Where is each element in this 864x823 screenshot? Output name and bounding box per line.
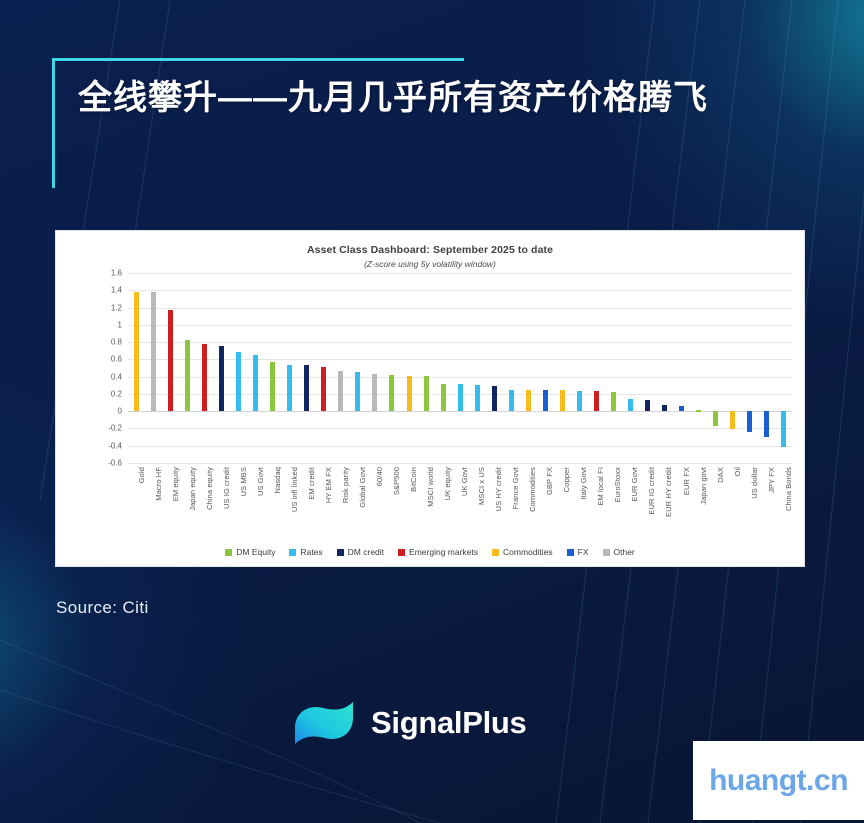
- x-axis-label-slot: UK Govt: [452, 465, 469, 553]
- chart-bar-slot: [145, 273, 162, 463]
- x-axis-label-slot: MSCI world: [418, 465, 435, 553]
- chart-bar-slot: [503, 273, 520, 463]
- x-axis-label-slot: EM local FI: [588, 465, 605, 553]
- x-axis-label-slot: GBP FX: [537, 465, 554, 553]
- chart-bar: [679, 406, 684, 411]
- brand-name: SignalPlus: [371, 705, 526, 741]
- x-axis-label-slot: 60/40: [366, 465, 383, 553]
- legend-item[interactable]: Emerging markets: [398, 547, 478, 557]
- y-axis-tick: 0.4: [90, 372, 122, 381]
- x-axis-label-slot: Japan equity: [179, 465, 196, 553]
- y-axis-tick: 0: [90, 407, 122, 416]
- chart-bar-slot: [537, 273, 554, 463]
- y-axis-tick: 1.4: [90, 286, 122, 295]
- chart-bar: [134, 292, 139, 411]
- y-axis-tick: 1: [90, 320, 122, 329]
- x-axis-label-slot: US IG credit: [213, 465, 230, 553]
- x-axis-label-slot: JPY FX: [758, 465, 775, 553]
- chart-bar: [764, 411, 769, 437]
- chart-bar: [611, 392, 616, 411]
- y-axis: 1.61.41.210.80.60.40.20-0.2-0.4-0.6: [86, 273, 122, 463]
- chart-bar: [594, 391, 599, 411]
- headline-block: 全线攀升——九月几乎所有资产价格腾飞: [52, 58, 812, 123]
- chart-bar-slot: [383, 273, 400, 463]
- y-axis-tick: 0.2: [90, 389, 122, 398]
- chart-bar: [441, 384, 446, 412]
- page-title: 全线攀升——九月几乎所有资产价格腾飞: [78, 58, 808, 123]
- chart-bar-slot: [486, 273, 503, 463]
- chart-bar-slot: [690, 273, 707, 463]
- chart-bar-slot: [213, 273, 230, 463]
- chart-bar: [202, 344, 207, 411]
- chart-bar: [713, 411, 718, 426]
- legend-label: FX: [578, 547, 589, 557]
- chart-bar-slot: [315, 273, 332, 463]
- x-axis-label-slot: UK equity: [435, 465, 452, 553]
- x-axis-label-slot: MSCI x US: [469, 465, 486, 553]
- chart-bar-slot: [724, 273, 741, 463]
- chart-bars: [128, 273, 792, 463]
- legend-item[interactable]: Rates: [289, 547, 322, 557]
- chart-bar: [253, 355, 258, 411]
- x-axis-label-slot: S&P500: [383, 465, 400, 553]
- x-axis-label-slot: Japan govt: [690, 465, 707, 553]
- chart-bar-slot: [741, 273, 758, 463]
- x-axis-label-slot: EUR FX: [673, 465, 690, 553]
- chart-bar: [219, 346, 224, 412]
- chart-bar: [509, 390, 514, 412]
- x-axis-label-slot: US infl linked: [281, 465, 298, 553]
- chart-bar-slot: [349, 273, 366, 463]
- x-axis-label-slot: China equity: [196, 465, 213, 553]
- chart-bar: [730, 411, 735, 429]
- x-axis-label-slot: EuroStoxx: [605, 465, 622, 553]
- chart-bar-slot: [520, 273, 537, 463]
- x-axis-label-slot: BitCoin: [401, 465, 418, 553]
- legend-swatch-icon: [289, 549, 296, 556]
- chart-bar-slot: [758, 273, 775, 463]
- chart-bar-slot: [332, 273, 349, 463]
- chart-card: Asset Class Dashboard: September 2025 to…: [55, 230, 805, 567]
- chart-bar-slot: [452, 273, 469, 463]
- legend-swatch-icon: [225, 549, 232, 556]
- x-axis-label: China Bonds: [784, 467, 793, 511]
- chart-bar-slot: [707, 273, 724, 463]
- y-axis-tick: -0.2: [90, 424, 122, 433]
- chart-bar-slot: [230, 273, 247, 463]
- chart-bar: [185, 340, 190, 411]
- legend-label: Emerging markets: [409, 547, 478, 557]
- legend-label: Rates: [300, 547, 322, 557]
- chart-bar: [628, 399, 633, 411]
- x-axis-label-slot: HY EM FX: [315, 465, 332, 553]
- chart-bar: [424, 376, 429, 411]
- x-axis-label-slot: Gold: [128, 465, 145, 553]
- legend-item[interactable]: DM Equity: [225, 547, 275, 557]
- chart-bar-slot: [162, 273, 179, 463]
- legend-label: Commodities: [503, 547, 553, 557]
- legend-swatch-icon: [398, 549, 405, 556]
- chart-bar: [696, 410, 701, 411]
- chart-bar-slot: [554, 273, 571, 463]
- gridline: [128, 463, 792, 464]
- y-axis-tick: 0.8: [90, 338, 122, 347]
- chart-bar: [338, 371, 343, 412]
- x-axis-label-slot: EM equity: [162, 465, 179, 553]
- chart-bar-slot: [366, 273, 383, 463]
- chart-bar-slot: [605, 273, 622, 463]
- chart-bar: [526, 390, 531, 412]
- chart-bar: [270, 362, 275, 411]
- x-axis-label-slot: US MBS: [230, 465, 247, 553]
- chart-bar-slot: [401, 273, 418, 463]
- chart-bar-slot: [247, 273, 264, 463]
- chart-bar: [492, 386, 497, 411]
- chart-bar: [458, 384, 463, 411]
- x-axis-label-slot: Nasdaq: [264, 465, 281, 553]
- x-axis-label-slot: EM credit: [298, 465, 315, 553]
- x-axis-label-slot: US HY credit: [486, 465, 503, 553]
- chart-bar: [662, 405, 667, 411]
- chart-bar-slot: [571, 273, 588, 463]
- x-axis-label-slot: Global Govt: [349, 465, 366, 553]
- chart-bar: [321, 367, 326, 411]
- chart-bar: [781, 411, 786, 446]
- chart-bar-slot: [196, 273, 213, 463]
- chart-bar-slot: [469, 273, 486, 463]
- y-axis-tick: -0.4: [90, 441, 122, 450]
- legend-label: Other: [614, 547, 635, 557]
- chart-bar-slot: [622, 273, 639, 463]
- chart-bar: [407, 376, 412, 411]
- x-axis-label-slot: Commodities: [520, 465, 537, 553]
- chart-bar: [543, 390, 548, 411]
- chart-bar: [372, 374, 377, 411]
- x-axis-label-slot: China Bonds: [775, 465, 792, 553]
- chart-bar: [355, 372, 360, 411]
- chart-plot-area: 1.61.41.210.80.60.40.20-0.2-0.4-0.6 Gold…: [56, 273, 806, 513]
- chart-bar-slot: [128, 273, 145, 463]
- x-axis-label-slot: Copper: [554, 465, 571, 553]
- x-axis-label-slot: EUR IG credit: [639, 465, 656, 553]
- chart-bar: [747, 411, 752, 432]
- legend-label: DM credit: [348, 547, 384, 557]
- x-axis-label-slot: Oil: [724, 465, 741, 553]
- chart-bar: [287, 365, 292, 412]
- legend-swatch-icon: [567, 549, 574, 556]
- x-axis-label-slot: EUR Govt: [622, 465, 639, 553]
- legend-label: DM Equity: [236, 547, 275, 557]
- chart-bar: [168, 310, 173, 411]
- x-axis-label-slot: US Govt: [247, 465, 264, 553]
- chart-bar: [304, 365, 309, 411]
- chart-bar-slot: [435, 273, 452, 463]
- chart-bar: [577, 391, 582, 411]
- chart-legend: DM EquityRatesDM creditEmerging marketsC…: [56, 547, 804, 557]
- chart-bar: [560, 390, 565, 411]
- chart-bar: [475, 385, 480, 411]
- chart-bar-slot: [639, 273, 656, 463]
- chart-bar-slot: [298, 273, 315, 463]
- chart-bar-slot: [775, 273, 792, 463]
- x-axis-label-slot: Macro HF: [145, 465, 162, 553]
- source-label: Source: Citi: [56, 598, 149, 618]
- chart-bar: [389, 375, 394, 411]
- x-axis-label-slot: DAX: [707, 465, 724, 553]
- x-axis-label-slot: US dollar: [741, 465, 758, 553]
- chart-bar: [151, 292, 156, 411]
- y-axis-tick: 1.2: [90, 303, 122, 312]
- brand-lockup: SignalPlus: [293, 694, 526, 752]
- legend-item[interactable]: Commodities: [492, 547, 553, 557]
- legend-swatch-icon: [492, 549, 499, 556]
- chart-bar: [645, 400, 650, 411]
- chart-bar-slot: [281, 273, 298, 463]
- legend-item[interactable]: FX: [567, 547, 589, 557]
- y-axis-tick: 1.6: [90, 269, 122, 278]
- chart-bar-slot: [418, 273, 435, 463]
- legend-item[interactable]: Other: [603, 547, 635, 557]
- legend-swatch-icon: [337, 549, 344, 556]
- chart-bar-slot: [673, 273, 690, 463]
- chart-subtitle: (Z-score using 5y volatility window): [56, 259, 804, 269]
- chart-bar-slot: [264, 273, 281, 463]
- legend-item[interactable]: DM credit: [337, 547, 384, 557]
- y-axis-tick: -0.6: [90, 459, 122, 468]
- chart-bar-slot: [656, 273, 673, 463]
- watermark: huangt.cn: [693, 741, 864, 820]
- x-axis-labels: GoldMacro HFEM equityJapan equityChina e…: [128, 465, 792, 553]
- x-axis-label-slot: Risk parity: [332, 465, 349, 553]
- x-axis-label-slot: EUR HY credit: [656, 465, 673, 553]
- legend-swatch-icon: [603, 549, 610, 556]
- watermark-text: huangt.cn: [709, 764, 848, 798]
- signalplus-wave-logo-icon: [293, 694, 355, 752]
- chart-bar-slot: [179, 273, 196, 463]
- chart-bar-slot: [588, 273, 605, 463]
- chart-bar: [236, 352, 241, 411]
- x-axis-label-slot: Italy Govt: [571, 465, 588, 553]
- chart-title: Asset Class Dashboard: September 2025 to…: [56, 244, 804, 256]
- x-axis-label-slot: France Govt: [503, 465, 520, 553]
- y-axis-tick: 0.6: [90, 355, 122, 364]
